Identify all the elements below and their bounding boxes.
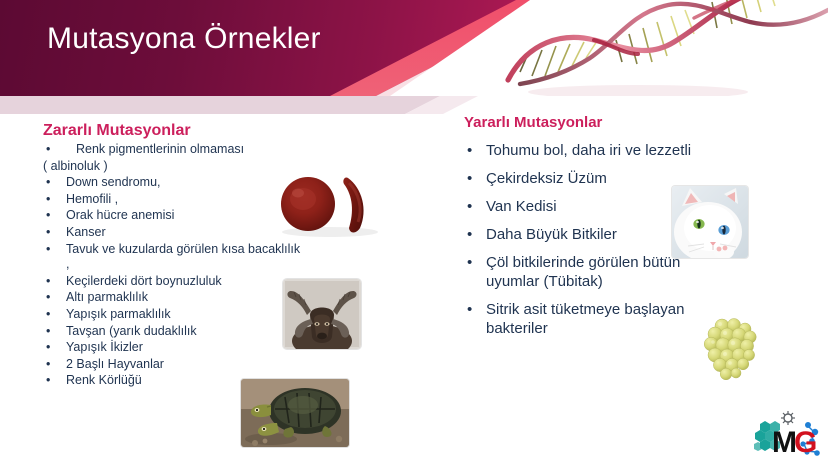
bullet-icon: •	[467, 253, 472, 272]
list-item-label: Yapışık İkizler	[66, 340, 143, 354]
list-item: •Tavuk ve kuzularda görülen kısa bacaklı…	[40, 242, 306, 273]
van-cat-heterochromia-image	[672, 186, 748, 258]
list-item-label: Renk pigmentlerinin olmaması	[76, 142, 244, 156]
list-item-label: Hemofili ,	[66, 192, 118, 206]
two-headed-turtle-image	[241, 379, 349, 447]
list-item-label: 2 Başlı Hayvanlar	[66, 357, 164, 371]
bullet-icon: •	[467, 225, 472, 244]
bullet-icon: •	[46, 208, 50, 224]
bullet-icon: •	[46, 307, 50, 323]
list-item-label: Tohumu bol, daha iri ve lezzetli	[486, 142, 691, 159]
list-item: •2 Başlı Hayvanlar	[40, 357, 370, 373]
header-underband	[0, 96, 828, 114]
seedless-grapes-image	[700, 318, 762, 382]
list-item: •Tohumu bol, daha iri ve lezzetli	[462, 141, 698, 160]
list-item-label: Altı parmaklılık	[66, 290, 148, 304]
bullet-icon: •	[46, 290, 50, 306]
harmful-mutations-column: Zararlı Mutasyonlar • Renk pigmentlerini…	[40, 122, 370, 390]
bullet-icon: •	[46, 175, 50, 191]
bullet-icon: •	[46, 142, 50, 158]
list-item-label: Çöl bitkilerinde görülen bütün uyumlar (…	[486, 254, 680, 290]
dna-double-helix-icon	[498, 0, 828, 96]
presentation-slide: Mutasyona Örnekler Zararlı Mutasyonlar •…	[0, 0, 828, 466]
bullet-icon: •	[46, 373, 50, 389]
slide-header: Mutasyona Örnekler	[0, 0, 828, 96]
logo-letter-g: G	[794, 426, 817, 459]
bullet-icon: •	[46, 274, 50, 290]
harmful-mutations-list: • Renk pigmentlerinin olmaması	[40, 142, 370, 158]
list-item-label: Van Kedisi	[486, 198, 557, 215]
bullet-icon: •	[46, 324, 50, 340]
bullet-icon: •	[467, 300, 472, 319]
list-item: •Sitrik asit tüketmeye başlayan bakteril…	[462, 300, 686, 338]
list-item-label: Keçilerdeki dört boynuzluluk	[66, 274, 222, 288]
list-item-label: Down sendromu,	[66, 175, 161, 189]
list-item-label: Yapışık parmaklılık	[66, 307, 171, 321]
mg-logo: M G	[752, 410, 824, 462]
list-item-label: Tavuk ve kuzularda görülen kısa bacaklıl…	[66, 242, 300, 272]
bullet-icon: •	[467, 197, 472, 216]
four-horned-goat-image	[283, 279, 361, 349]
slide-title: Mutasyona Örnekler	[47, 22, 321, 56]
list-item-label: Tavşan (yarık dudaklılık	[66, 324, 197, 338]
list-item-label: Orak hücre anemisi	[66, 208, 174, 222]
list-item-label: Sitrik asit tüketmeye başlayan bakterile…	[486, 301, 684, 337]
list-item: • Renk pigmentlerinin olmaması	[40, 142, 370, 158]
beneficial-mutations-heading: Yararlı Mutasyonlar	[464, 114, 772, 131]
bullet-icon: •	[46, 225, 50, 241]
bullet-icon: •	[46, 340, 50, 356]
list-item-label: Çekirdeksiz Üzüm	[486, 170, 607, 187]
list-item: •Çöl bitkilerinde görülen bütün uyumlar …	[462, 253, 710, 291]
harmful-mutations-heading: Zararlı Mutasyonlar	[43, 122, 370, 140]
bullet-icon: •	[46, 242, 50, 258]
bullet-icon: •	[46, 357, 50, 373]
bullet-icon: •	[467, 141, 472, 160]
gear-icon	[781, 411, 795, 425]
list-item-label: Kanser	[66, 225, 106, 239]
list-item-label: Renk Körlüğü	[66, 373, 142, 387]
bullet-icon: •	[467, 169, 472, 188]
red-blood-cell-sickle-cell-image	[276, 172, 384, 238]
list-item-label: Daha Büyük Bitkiler	[486, 226, 617, 243]
bullet-icon: •	[46, 192, 50, 208]
